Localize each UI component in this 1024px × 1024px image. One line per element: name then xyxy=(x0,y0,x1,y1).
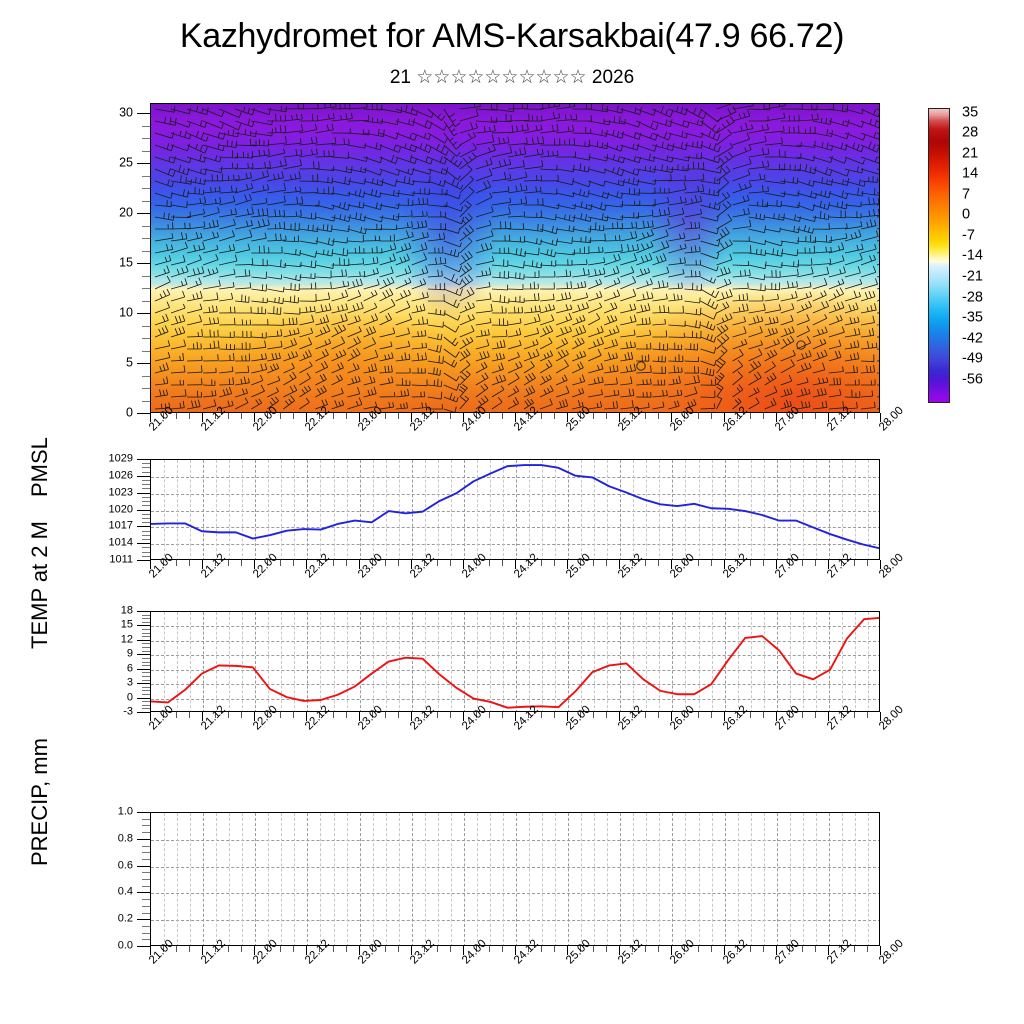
grid-line-vertical xyxy=(725,813,726,946)
x-minor-tick xyxy=(815,560,816,566)
x-major-tick xyxy=(359,712,360,721)
grid-line-vertical-minor xyxy=(347,460,348,560)
grid-line-vertical-minor xyxy=(659,813,660,946)
grid-line-vertical-minor xyxy=(386,460,387,560)
x-major-tick xyxy=(515,560,516,569)
x-major-tick xyxy=(515,946,516,955)
x-minor-tick xyxy=(489,712,490,718)
grid-line-horizontal xyxy=(151,920,880,921)
y-minor-tick xyxy=(142,651,150,652)
x-minor-tick xyxy=(215,946,216,952)
grid-line-vertical-minor xyxy=(529,612,530,712)
x-minor-tick xyxy=(489,946,490,952)
grid-line-vertical-minor xyxy=(594,813,595,946)
x-minor-tick xyxy=(698,946,699,952)
y-minor-tick xyxy=(142,886,150,887)
x-axis-label: 26.12 xyxy=(721,938,750,967)
x-minor-tick xyxy=(658,946,659,952)
x-major-tick xyxy=(515,712,516,721)
y-major-tick xyxy=(137,560,150,561)
grid-line-horizontal xyxy=(151,626,880,627)
y-minor-tick xyxy=(142,618,150,619)
colorbar-tick-label: -7 xyxy=(962,228,975,243)
x-minor-tick xyxy=(867,712,868,718)
grid-line-vertical xyxy=(307,460,308,560)
x-axis-label: 25.12 xyxy=(616,938,645,967)
x-major-tick xyxy=(254,560,255,569)
x-minor-tick xyxy=(867,946,868,952)
x-major-tick xyxy=(776,560,777,569)
x-axis-label: 24.12 xyxy=(512,704,541,733)
grid-line-vertical-minor xyxy=(451,460,452,560)
grid-line-vertical-minor xyxy=(790,460,791,560)
grid-line-vertical xyxy=(620,612,621,712)
x-major-tick xyxy=(202,560,203,569)
grid-line-vertical xyxy=(777,460,778,560)
y-minor-tick xyxy=(142,556,150,557)
y-axis-label: -3 xyxy=(0,707,133,718)
x-major-tick xyxy=(411,946,412,955)
x-minor-tick xyxy=(554,560,555,566)
grid-line-vertical-minor xyxy=(581,813,582,946)
grid-line-vertical-minor xyxy=(477,460,478,560)
y-minor-tick xyxy=(142,488,150,489)
x-major-tick xyxy=(306,560,307,569)
x-minor-tick xyxy=(280,946,281,952)
x-axis-label: 28.00 xyxy=(877,704,906,733)
y-minor-tick xyxy=(142,622,150,623)
x-minor-tick xyxy=(228,946,229,952)
colorbar-tick-label: 7 xyxy=(962,187,970,202)
x-axis-label: 23.12 xyxy=(408,552,437,581)
x-minor-tick xyxy=(841,560,842,566)
y-minor-tick xyxy=(142,701,150,702)
colorbar-tick-label: -21 xyxy=(962,269,983,284)
grid-line-vertical-minor xyxy=(594,612,595,712)
precip-plot xyxy=(150,812,880,946)
grid-line-vertical-minor xyxy=(399,612,400,712)
grid-line-vertical-minor xyxy=(320,612,321,712)
grid-line-vertical-minor xyxy=(190,612,191,712)
grid-line-vertical-minor xyxy=(699,612,700,712)
grid-line-vertical-minor xyxy=(451,612,452,712)
x-major-tick xyxy=(254,712,255,721)
y-axis-label: 6 xyxy=(0,663,133,674)
y-minor-tick xyxy=(142,633,150,634)
grid-line-vertical-minor xyxy=(216,612,217,712)
x-major-tick xyxy=(880,712,881,721)
x-minor-tick xyxy=(593,560,594,566)
x-axis-label: 23.00 xyxy=(356,704,385,733)
x-axis-label: 21.00 xyxy=(147,938,176,967)
y-minor-tick xyxy=(142,913,150,914)
y-minor-tick xyxy=(142,615,150,616)
x-minor-tick xyxy=(450,560,451,566)
x-major-tick xyxy=(880,560,881,569)
grid-line-vertical-minor xyxy=(855,460,856,560)
grid-line-vertical-minor xyxy=(216,460,217,560)
y-minor-tick xyxy=(142,708,150,709)
x-minor-tick xyxy=(802,560,803,566)
x-minor-tick xyxy=(854,946,855,952)
y-major-tick xyxy=(137,476,150,477)
grid-line-horizontal xyxy=(151,494,880,495)
grid-line-vertical-minor xyxy=(425,612,426,712)
x-axis-label: 28.00 xyxy=(877,552,906,581)
x-minor-tick xyxy=(424,946,425,952)
x-major-tick xyxy=(254,946,255,955)
grid-line-vertical-minor xyxy=(477,612,478,712)
grid-line-vertical xyxy=(412,813,413,946)
x-minor-tick xyxy=(528,946,529,952)
y-minor-tick xyxy=(142,899,150,900)
y-major-tick xyxy=(137,683,150,684)
grid-line-vertical-minor xyxy=(503,813,504,946)
y-major-tick xyxy=(137,812,150,813)
x-minor-tick xyxy=(450,712,451,718)
y-axis-label: 0.4 xyxy=(0,887,133,898)
x-minor-tick xyxy=(645,946,646,952)
temp-2m-line xyxy=(151,618,880,708)
x-axis-label: 26.12 xyxy=(721,704,750,733)
x-minor-tick xyxy=(528,560,529,566)
y-minor-tick xyxy=(142,514,150,515)
x-minor-tick xyxy=(711,560,712,566)
grid-line-vertical xyxy=(516,612,517,712)
grid-line-vertical-minor xyxy=(438,612,439,712)
x-major-tick xyxy=(150,946,151,955)
x-major-tick xyxy=(619,560,620,569)
x-minor-tick xyxy=(645,560,646,566)
grid-line-vertical xyxy=(255,460,256,560)
x-minor-tick xyxy=(684,946,685,952)
x-minor-tick xyxy=(398,560,399,566)
x-minor-tick xyxy=(280,712,281,718)
x-minor-tick xyxy=(580,560,581,566)
colorbar-tick-label: -56 xyxy=(962,372,983,387)
grid-line-vertical-minor xyxy=(868,460,869,560)
x-minor-tick xyxy=(763,560,764,566)
grid-line-vertical-minor xyxy=(542,460,543,560)
y-axis-label: 1017 xyxy=(0,521,133,532)
y-minor-tick xyxy=(142,497,150,498)
grid-line-vertical xyxy=(777,612,778,712)
x-minor-tick xyxy=(698,560,699,566)
grid-line-vertical-minor xyxy=(542,813,543,946)
x-minor-tick xyxy=(267,712,268,718)
grid-line-vertical-minor xyxy=(438,460,439,560)
x-major-tick xyxy=(202,946,203,955)
grid-line-vertical xyxy=(829,460,830,560)
x-minor-tick xyxy=(267,946,268,952)
y-minor-tick xyxy=(142,522,150,523)
x-minor-tick xyxy=(684,712,685,718)
y-minor-tick xyxy=(142,926,150,927)
x-minor-tick xyxy=(593,946,594,952)
y-minor-tick xyxy=(142,480,150,481)
x-minor-tick xyxy=(293,712,294,718)
x-major-tick xyxy=(567,560,568,569)
grid-line-vertical xyxy=(360,813,361,946)
colorbar-tick-label: -14 xyxy=(962,249,983,264)
x-minor-tick xyxy=(372,712,373,718)
x-minor-tick xyxy=(658,712,659,718)
y-minor-tick xyxy=(142,629,150,630)
x-major-tick xyxy=(776,712,777,721)
grid-line-vertical-minor xyxy=(646,612,647,712)
grid-line-vertical xyxy=(829,813,830,946)
grid-line-vertical-minor xyxy=(281,813,282,946)
x-major-tick xyxy=(828,712,829,721)
grid-line-vertical-minor xyxy=(803,813,804,946)
grid-line-vertical-minor xyxy=(712,460,713,560)
grid-line-vertical-minor xyxy=(451,813,452,946)
x-minor-tick xyxy=(815,712,816,718)
x-major-tick xyxy=(567,946,568,955)
grid-line-vertical-minor xyxy=(242,460,243,560)
y-minor-tick xyxy=(142,906,150,907)
x-minor-tick xyxy=(502,560,503,566)
x-minor-tick xyxy=(854,560,855,566)
grid-line-vertical xyxy=(203,612,204,712)
y-minor-tick xyxy=(142,643,150,644)
grid-line-vertical xyxy=(516,813,517,946)
grid-line-vertical-minor xyxy=(816,460,817,560)
grid-line-vertical-minor xyxy=(399,813,400,946)
grid-line-vertical-minor xyxy=(229,612,230,712)
grid-line-vertical-minor xyxy=(386,813,387,946)
pmsl-series xyxy=(151,460,880,560)
x-axis-label: 26.00 xyxy=(668,704,697,733)
x-minor-tick xyxy=(176,712,177,718)
x-axis-label: 27.12 xyxy=(825,938,854,967)
grid-line-vertical-minor xyxy=(164,813,165,946)
grid-line-vertical-minor xyxy=(425,813,426,946)
grid-line-horizontal xyxy=(151,544,880,545)
grid-line-horizontal xyxy=(151,477,880,478)
y-axis-label: 0.0 xyxy=(0,941,133,952)
grid-line-vertical xyxy=(360,612,361,712)
x-minor-tick xyxy=(476,712,477,718)
x-minor-tick xyxy=(815,946,816,952)
grid-line-vertical-minor xyxy=(334,460,335,560)
y-minor-tick xyxy=(142,472,150,473)
x-minor-tick xyxy=(267,560,268,566)
y-minor-tick xyxy=(142,552,150,553)
grid-line-vertical-minor xyxy=(633,612,634,712)
grid-line-vertical-minor xyxy=(555,612,556,712)
x-major-tick xyxy=(359,560,360,569)
grid-line-vertical-minor xyxy=(607,813,608,946)
y-minor-tick xyxy=(142,647,150,648)
grid-line-vertical-minor xyxy=(816,813,817,946)
x-major-tick xyxy=(776,946,777,955)
x-minor-tick xyxy=(319,560,320,566)
x-major-tick xyxy=(671,712,672,721)
grid-line-vertical-minor xyxy=(816,612,817,712)
grid-line-vertical-minor xyxy=(685,460,686,560)
x-axis-label: 25.12 xyxy=(616,552,645,581)
x-axis-label: 24.12 xyxy=(512,552,541,581)
grid-line-vertical xyxy=(672,813,673,946)
x-major-tick xyxy=(411,560,412,569)
y-axis-label: 0.2 xyxy=(0,914,133,925)
x-axis-label: 23.00 xyxy=(356,552,385,581)
grid-line-vertical-minor xyxy=(334,813,335,946)
x-minor-tick xyxy=(867,560,868,566)
grid-line-vertical-minor xyxy=(190,460,191,560)
colorbar-tick-label: -35 xyxy=(962,311,983,326)
grid-line-vertical xyxy=(829,612,830,712)
y-axis-label: 1020 xyxy=(0,504,133,515)
x-minor-tick xyxy=(606,560,607,566)
grid-line-vertical-minor xyxy=(216,813,217,946)
x-minor-tick xyxy=(215,560,216,566)
x-axis-label: 27.00 xyxy=(773,704,802,733)
x-minor-tick xyxy=(854,712,855,718)
y-axis-label: 3 xyxy=(0,678,133,689)
x-minor-tick xyxy=(163,712,164,718)
x-minor-tick xyxy=(606,946,607,952)
grid-line-vertical-minor xyxy=(373,813,374,946)
grid-line-vertical-minor xyxy=(490,813,491,946)
y-axis-label: 1026 xyxy=(0,470,133,481)
x-minor-tick xyxy=(580,712,581,718)
x-minor-tick xyxy=(737,712,738,718)
x-minor-tick xyxy=(789,946,790,952)
x-minor-tick xyxy=(280,560,281,566)
grid-line-vertical-minor xyxy=(164,612,165,712)
x-minor-tick xyxy=(241,560,242,566)
grid-line-vertical-minor xyxy=(294,813,295,946)
x-minor-tick xyxy=(241,712,242,718)
grid-line-vertical-minor xyxy=(646,460,647,560)
x-major-tick xyxy=(880,946,881,955)
grid-line-vertical-minor xyxy=(855,813,856,946)
grid-line-horizontal xyxy=(151,511,880,512)
x-minor-tick xyxy=(698,712,699,718)
grid-line-vertical-minor xyxy=(803,612,804,712)
grid-line-vertical xyxy=(777,813,778,946)
grid-line-vertical-minor xyxy=(294,612,295,712)
x-minor-tick xyxy=(437,946,438,952)
y-minor-tick xyxy=(142,879,150,880)
y-axis-label: 1011 xyxy=(0,555,133,566)
x-minor-tick xyxy=(737,560,738,566)
x-minor-tick xyxy=(684,560,685,566)
grid-line-vertical-minor xyxy=(177,612,178,712)
x-axis-label: 21.00 xyxy=(147,704,176,733)
y-axis-label: 1014 xyxy=(0,538,133,549)
y-axis-label: 12 xyxy=(0,634,133,645)
grid-line-vertical-minor xyxy=(477,813,478,946)
x-major-tick xyxy=(828,560,829,569)
x-minor-tick xyxy=(398,712,399,718)
x-major-tick xyxy=(411,712,412,721)
grid-line-vertical-minor xyxy=(751,460,752,560)
y-major-tick xyxy=(137,892,150,893)
y-minor-tick xyxy=(142,832,150,833)
grid-line-vertical-minor xyxy=(751,813,752,946)
x-minor-tick xyxy=(189,946,190,952)
y-minor-tick xyxy=(142,687,150,688)
grid-line-vertical xyxy=(568,460,569,560)
grid-line-vertical-minor xyxy=(842,612,843,712)
x-minor-tick xyxy=(841,946,842,952)
y-major-tick xyxy=(137,543,150,544)
colorbar-tick-label: -49 xyxy=(962,352,983,367)
colorbar-tick-label: 28 xyxy=(962,126,978,141)
x-minor-tick xyxy=(750,712,751,718)
x-minor-tick xyxy=(502,712,503,718)
x-minor-tick xyxy=(737,946,738,952)
y-minor-tick xyxy=(142,505,150,506)
x-axis-label: 26.00 xyxy=(668,938,697,967)
grid-line-vertical-minor xyxy=(529,813,530,946)
x-major-tick xyxy=(463,712,464,721)
grid-line-vertical-minor xyxy=(503,612,504,712)
y-major-tick xyxy=(137,640,150,641)
y-major-tick xyxy=(137,625,150,626)
x-axis-label: 27.12 xyxy=(825,552,854,581)
y-major-tick xyxy=(137,510,150,511)
x-major-tick xyxy=(359,946,360,955)
grid-line-vertical-minor xyxy=(659,460,660,560)
grid-line-vertical-minor xyxy=(790,612,791,712)
y-minor-tick xyxy=(142,547,150,548)
x-minor-tick xyxy=(580,946,581,952)
grid-line-vertical-minor xyxy=(503,460,504,560)
x-axis-label: 24.00 xyxy=(460,938,489,967)
y-axis-label: 15 xyxy=(0,620,133,631)
colorbar-labels: 3528211470-7-14-21-28-35-42-49-56 xyxy=(0,0,1024,470)
x-minor-tick xyxy=(385,560,386,566)
grid-line-vertical-minor xyxy=(699,460,700,560)
x-minor-tick xyxy=(711,946,712,952)
x-major-tick xyxy=(567,712,568,721)
grid-line-vertical-minor xyxy=(334,612,335,712)
y-minor-tick xyxy=(142,539,150,540)
x-minor-tick xyxy=(593,712,594,718)
grid-line-vertical-minor xyxy=(803,460,804,560)
grid-line-vertical-minor xyxy=(268,612,269,712)
colorbar-tick-label: 35 xyxy=(962,105,978,120)
colorbar-tick-label: 0 xyxy=(962,208,970,223)
grid-line-vertical xyxy=(568,813,569,946)
grid-line-vertical-minor xyxy=(842,813,843,946)
colorbar-tick-label: -42 xyxy=(962,331,983,346)
temp-2m-plot xyxy=(150,611,880,712)
x-minor-tick xyxy=(789,560,790,566)
x-axis-label: 21.12 xyxy=(199,704,228,733)
x-minor-tick xyxy=(333,712,334,718)
y-axis-label: 9 xyxy=(0,649,133,660)
grid-line-vertical xyxy=(620,460,621,560)
x-axis-label: 22.00 xyxy=(251,552,280,581)
x-minor-tick xyxy=(189,712,190,718)
grid-line-vertical xyxy=(307,612,308,712)
y-minor-tick xyxy=(142,939,150,940)
grid-line-vertical-minor xyxy=(177,460,178,560)
grid-line-vertical-minor xyxy=(555,813,556,946)
pmsl-line xyxy=(151,465,880,549)
y-major-tick xyxy=(137,839,150,840)
grid-line-vertical xyxy=(203,460,204,560)
grid-line-horizontal xyxy=(151,699,880,700)
grid-line-horizontal xyxy=(151,527,880,528)
y-minor-tick xyxy=(142,531,150,532)
x-minor-tick xyxy=(541,560,542,566)
